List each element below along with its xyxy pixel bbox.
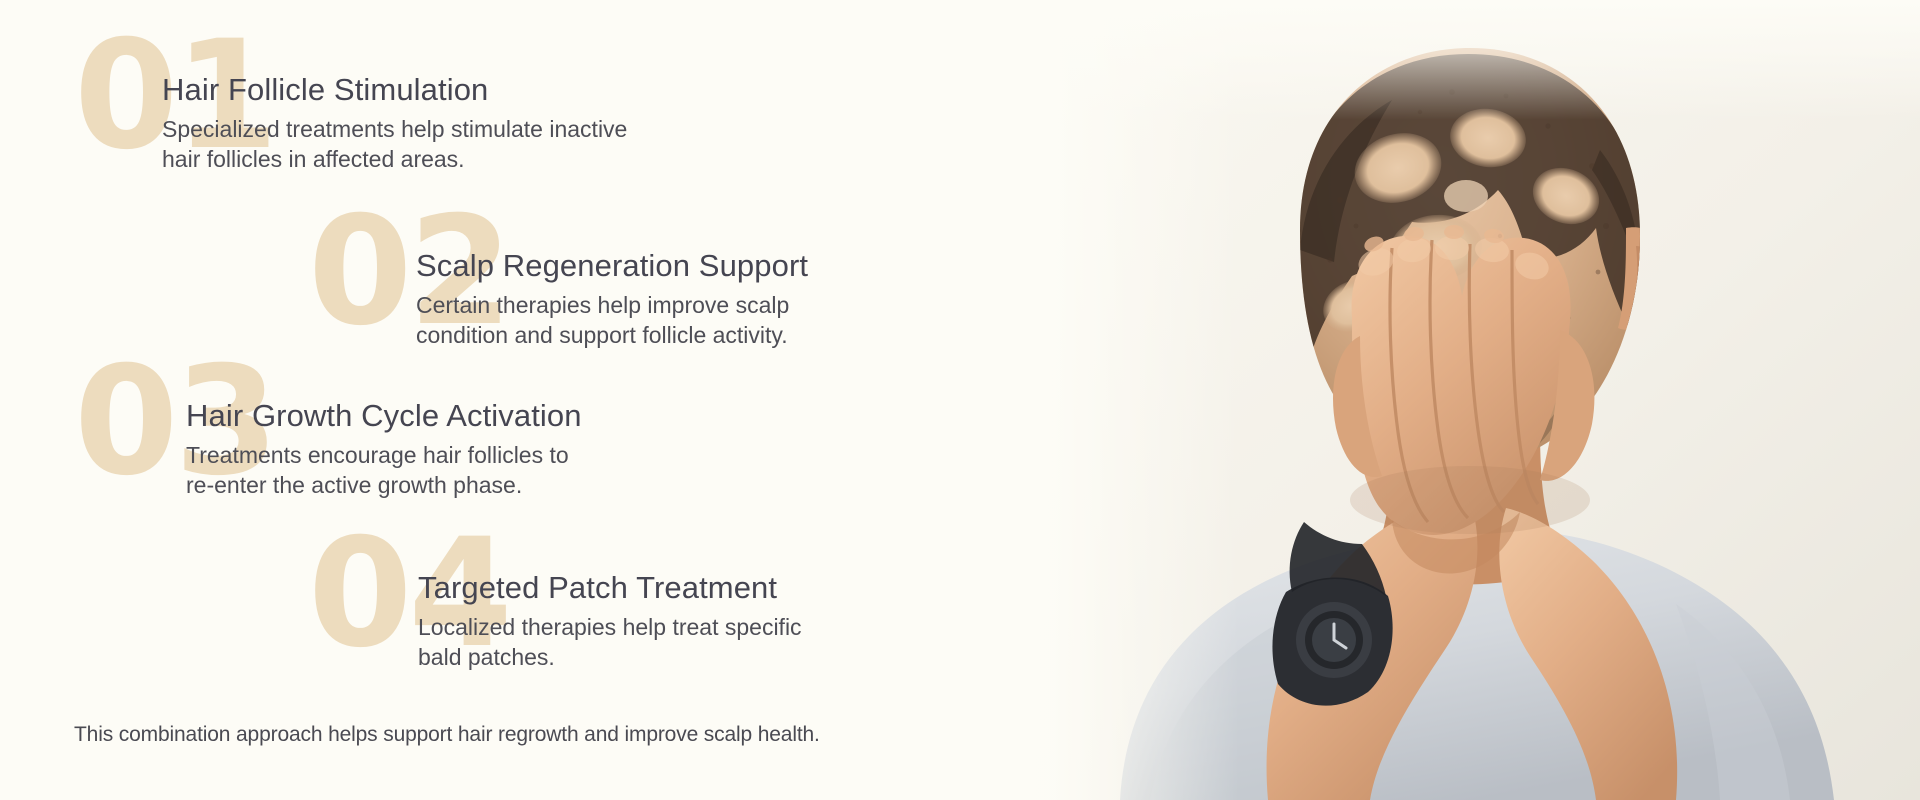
step-heading: Targeted Patch Treatment (418, 570, 1178, 607)
step-heading: Hair Follicle Stimulation (162, 72, 922, 109)
step-body: Treatments encourage hair follicles to r… (186, 440, 946, 502)
photo-left-fade (1000, 0, 1920, 800)
hero-photo (1000, 0, 1920, 800)
summary-text: This combination approach helps support … (74, 723, 820, 747)
step-text-block: Hair Follicle Stimulation Specialized tr… (162, 72, 922, 175)
step-body: Certain therapies help improve scalp con… (416, 290, 1176, 352)
step-heading: Scalp Regeneration Support (416, 248, 1176, 285)
step-text-block: Targeted Patch Treatment Localized thera… (418, 570, 1178, 673)
step-heading: Hair Growth Cycle Activation (186, 398, 946, 435)
step-body: Specialized treatments help stimulate in… (162, 114, 922, 176)
infographic-root: 01 Hair Follicle Stimulation Specialized… (0, 0, 1920, 800)
step-text-block: Hair Growth Cycle Activation Treatments … (186, 398, 946, 501)
step-text-block: Scalp Regeneration Support Certain thera… (416, 248, 1176, 351)
steps-list: 01 Hair Follicle Stimulation Specialized… (0, 0, 1060, 800)
step-body: Localized therapies help treat specific … (418, 612, 1178, 674)
photo-top-fade (1000, 0, 1920, 120)
